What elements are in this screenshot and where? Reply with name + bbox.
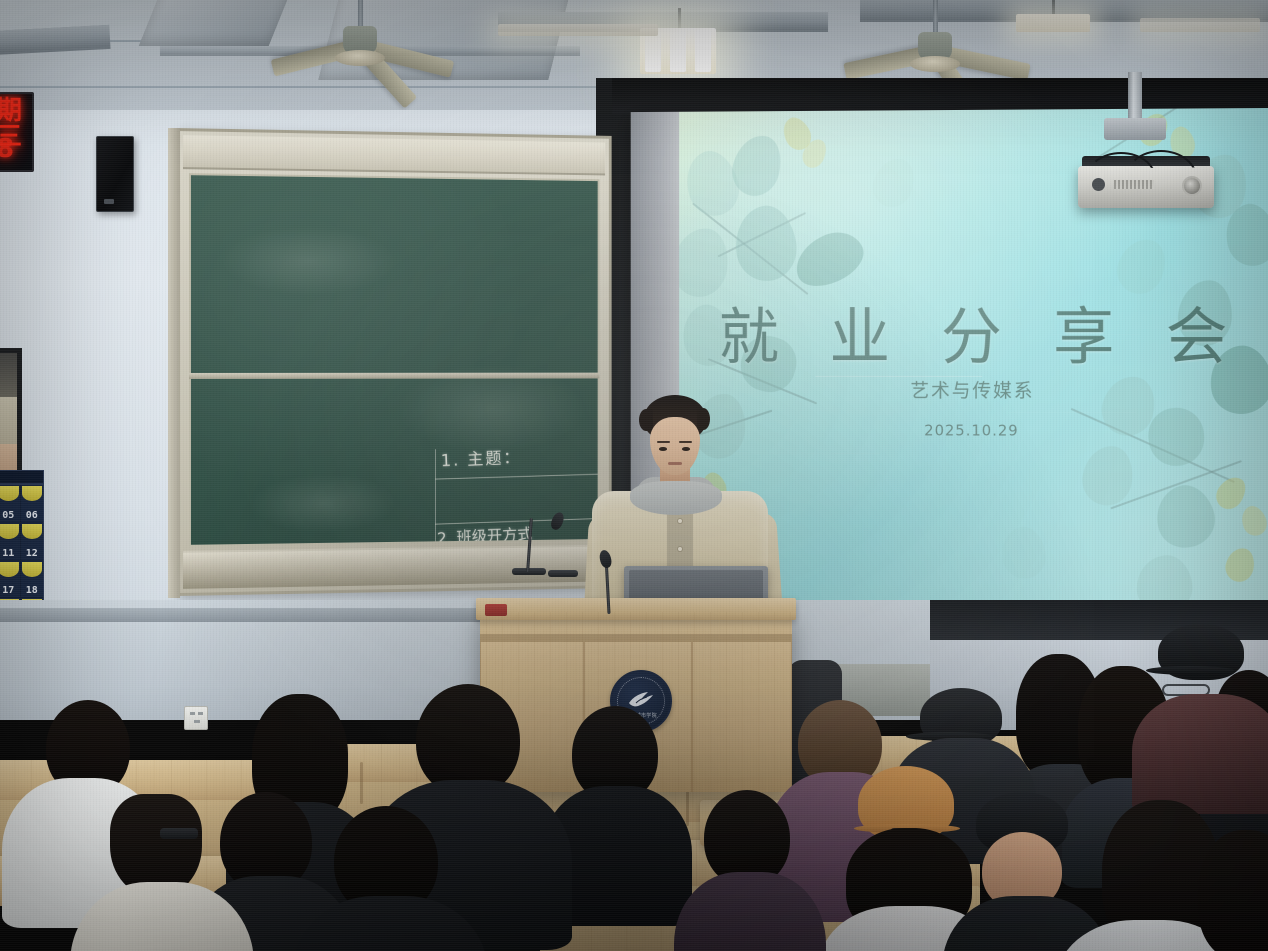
chalkboard: 1. 主题： 2. 班级开方式 <box>189 173 600 547</box>
projector-vent <box>1114 180 1154 189</box>
light-tube <box>670 30 687 72</box>
cap-brim <box>1146 666 1234 675</box>
microphone-base <box>548 570 578 577</box>
light-tube <box>695 30 712 72</box>
seat-divider <box>360 762 363 804</box>
locker-number: 18 <box>26 585 38 596</box>
locker-cell[interactable]: 18 <box>21 561 44 598</box>
lecture-hall-photo: 期三 8 05 06 11 12 17 18 23 24 29 30 49 51… <box>0 0 1268 951</box>
locker-cell[interactable]: 06 <box>21 485 44 522</box>
red-desk-item <box>485 604 507 616</box>
led-sign-line2: 8 <box>0 136 32 162</box>
chalk-ledge <box>183 545 605 589</box>
wall-speaker <box>96 136 134 212</box>
chalkboard-assembly: 1. 主题： 2. 班级开方式 <box>176 128 612 596</box>
slide-title: 就 业 分 享 会 <box>679 286 1268 376</box>
led-day-sign: 期三 8 <box>0 92 34 172</box>
locker-cell[interactable]: 11 <box>0 523 20 560</box>
chalkboard-line-1: 1. 主题： <box>440 443 521 471</box>
ceiling-fan <box>300 0 420 84</box>
phoenix-bird-icon <box>626 688 656 710</box>
light-hanger <box>678 8 681 30</box>
projector-mount-pipe <box>1128 72 1142 122</box>
chalkboard-line-2: 2. 班级开方式 <box>437 521 533 547</box>
wall-outlet <box>184 706 208 730</box>
presenter-eye <box>659 447 667 451</box>
ceiling-light <box>498 24 658 36</box>
locker-number: 12 <box>26 548 38 559</box>
locker-board-header <box>0 470 44 484</box>
locker-cell[interactable]: 17 <box>0 561 20 598</box>
locker-cell[interactable]: 12 <box>21 523 44 560</box>
ceiling-duct <box>139 0 292 46</box>
ceiling-fan <box>870 0 1000 82</box>
podium-edge-band <box>480 634 792 642</box>
locker-number: 06 <box>26 510 38 521</box>
leaf <box>1237 503 1268 540</box>
locker-number: 05 <box>2 510 14 521</box>
leaf <box>787 223 870 295</box>
stage-baseboard <box>0 608 480 622</box>
locker-number: 11 <box>2 548 14 559</box>
leaf <box>997 523 1050 582</box>
wall-poster <box>0 348 22 488</box>
fan-hub <box>910 56 960 72</box>
locker-number: 17 <box>2 585 14 596</box>
ceiling-light <box>1140 18 1260 32</box>
projector-knob <box>1092 178 1105 191</box>
leaf <box>1079 442 1136 508</box>
ceiling-light <box>1016 14 1090 32</box>
podium-top-surface <box>476 598 796 620</box>
locker-cell[interactable]: 05 <box>0 485 20 522</box>
podium-right-panel <box>692 642 792 792</box>
audience-body <box>1132 694 1268 814</box>
leaf <box>731 202 801 285</box>
projector-bracket <box>1104 118 1166 140</box>
chalkboard-left-rail <box>168 128 180 598</box>
presenter-hood-collar <box>630 481 722 515</box>
chalkboard-top-rail <box>183 135 605 175</box>
leaf <box>1223 545 1257 584</box>
presenter-eye <box>682 447 690 451</box>
fan-hub <box>335 50 385 66</box>
presenter-face <box>650 417 700 475</box>
light-tube <box>645 30 662 72</box>
hair-clip <box>160 828 198 839</box>
presenter-mouth <box>668 462 682 465</box>
leaf <box>868 153 920 212</box>
